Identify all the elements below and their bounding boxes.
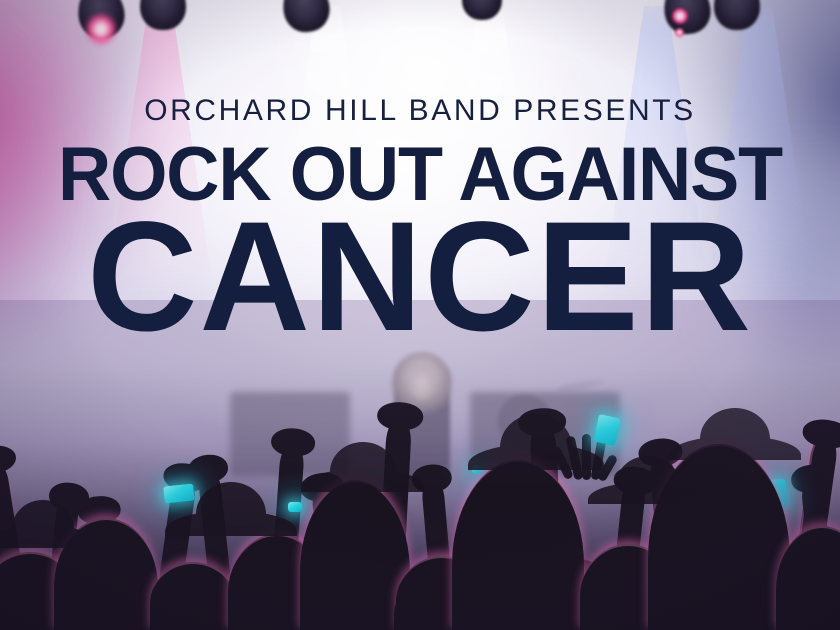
poster-copy: ORCHARD HILL BAND PRESENTS ROCK OUT AGAI… [0, 0, 840, 347]
phone-screen-icon [288, 502, 302, 512]
phone-screen-icon [593, 414, 620, 446]
crowd-head [196, 482, 266, 534]
phone-screen-icon [163, 483, 195, 503]
headline-line-2: CANCER [8, 207, 831, 347]
crowd-head [700, 408, 770, 458]
event-poster: ORCHARD HILL BAND PRESENTS ROCK OUT AGAI… [0, 0, 840, 630]
presenter-eyebrow: ORCHARD HILL BAND PRESENTS [0, 92, 840, 130]
